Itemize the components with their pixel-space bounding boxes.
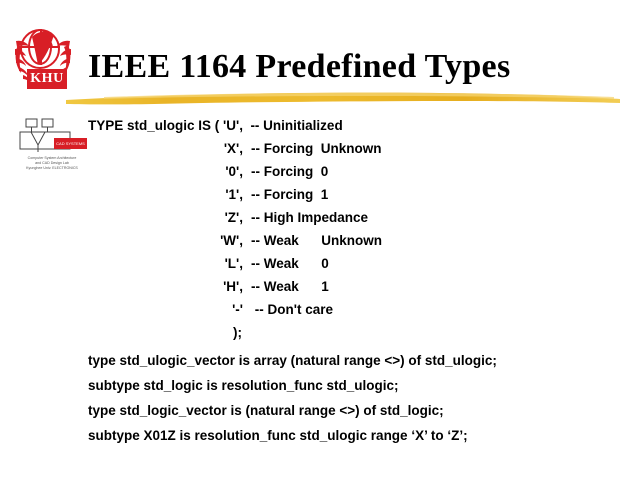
enum-comment: -- Forcing 1 xyxy=(251,183,328,206)
slide-canvas: KHU IEEE 1164 Predefined Types xyxy=(0,0,640,480)
lab-diagram-icon xyxy=(18,118,76,156)
page-title: IEEE 1164 Predefined Types xyxy=(88,47,510,87)
enum-row: '1',-- Forcing 1 xyxy=(88,183,628,206)
enum-literal: '1', xyxy=(88,183,251,206)
enum-row: 'W',-- Weak Unknown xyxy=(88,229,628,252)
lab-caption-line3: Kyunghee Univ. ELECTRONICS xyxy=(14,166,90,171)
enum-row: '0',-- Forcing 0 xyxy=(88,160,628,183)
declaration-line: subtype X01Z is resolution_func std_ulog… xyxy=(88,423,628,448)
enum-literal: '-' xyxy=(88,298,251,321)
cad-lab-logo: CAD SYSTEMS Computer System Architecture… xyxy=(14,118,90,180)
enum-literal: 'H', xyxy=(88,275,251,298)
enum-comment: -- Weak 0 xyxy=(251,252,329,275)
enum-comment: -- Weak Unknown xyxy=(251,229,382,252)
enum-row: 'X',-- Forcing Unknown xyxy=(88,137,628,160)
declaration-list: type std_ulogic_vector is array (natural… xyxy=(88,348,628,448)
declaration-line: subtype std_logic is resolution_func std… xyxy=(88,373,628,398)
vhdl-code-block: TYPE std_ulogic IS ( 'U', -- Uninitializ… xyxy=(88,114,628,448)
enum-comment: -- High Impedance xyxy=(251,206,368,229)
enum-row: 'Z',-- High Impedance xyxy=(88,206,628,229)
enum-literal: 'X', xyxy=(88,137,251,160)
khu-wordmark: KHU xyxy=(27,69,67,89)
enum-literal: 'W', xyxy=(88,229,251,252)
code-line-type-declaration: TYPE std_ulogic IS ( 'U', -- Uninitializ… xyxy=(88,114,628,137)
enum-comment: -- Weak 1 xyxy=(251,275,329,298)
declaration-line: type std_logic_vector is (natural range … xyxy=(88,398,628,423)
enum-literal: '0', xyxy=(88,160,251,183)
enum-literal: 'Z', xyxy=(88,206,251,229)
declaration-line: type std_ulogic_vector is array (natural… xyxy=(88,348,628,373)
enum-value-list: 'X',-- Forcing Unknown'0',-- Forcing 0'1… xyxy=(88,137,628,321)
enum-row: 'L',-- Weak 0 xyxy=(88,252,628,275)
enum-comment: -- Don't care xyxy=(251,298,333,321)
enum-comment: -- Forcing 0 xyxy=(251,160,328,183)
enum-comment: -- Forcing Unknown xyxy=(251,137,382,160)
lab-caption: Computer System Architecture and CAD Des… xyxy=(14,156,90,172)
cad-systems-badge: CAD SYSTEMS xyxy=(54,138,87,149)
code-line-close-paren: ); xyxy=(88,321,628,344)
enum-row: '-' -- Don't care xyxy=(88,298,628,321)
enum-row: 'H',-- Weak 1 xyxy=(88,275,628,298)
khu-university-logo: KHU xyxy=(12,27,74,91)
title-underline-brushstroke xyxy=(64,88,622,106)
enum-literal: 'L', xyxy=(88,252,251,275)
